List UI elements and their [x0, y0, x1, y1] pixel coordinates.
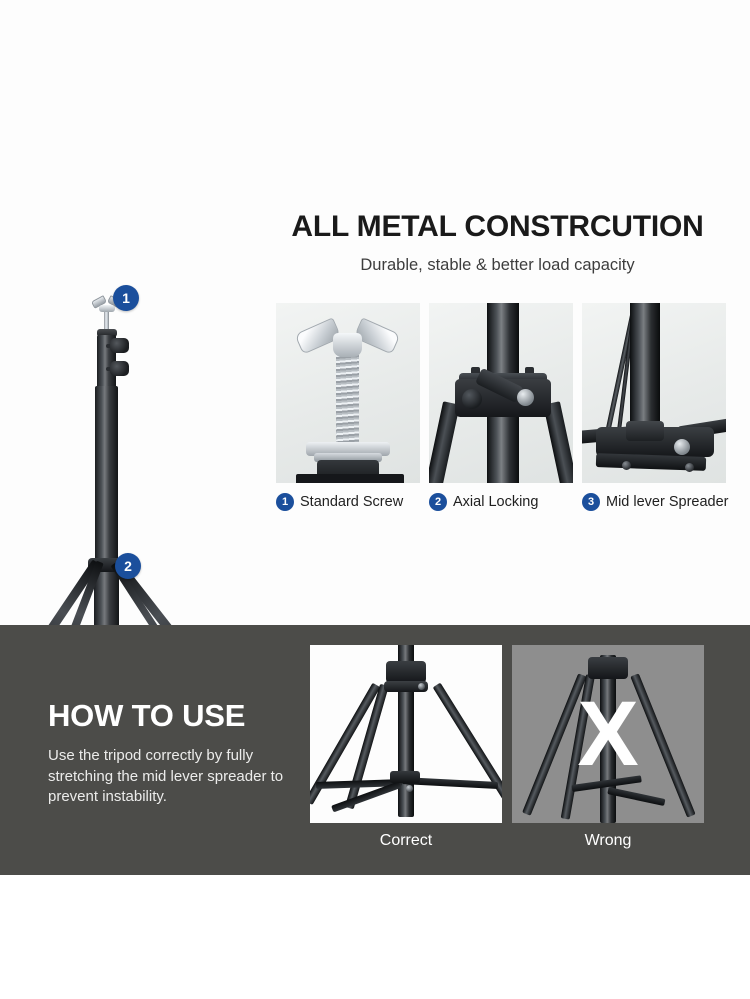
infographic-page: 1 2 3 ALL METAL CONSTRCUTION Durable, st…	[0, 0, 750, 999]
screw-mount-plate	[296, 474, 404, 483]
axial-lock-pivot-knob	[462, 389, 482, 409]
how-to-use-description: Use the tripod correctly by fully stretc…	[48, 746, 300, 808]
hero-callout-badge-1-number: 1	[122, 290, 130, 306]
axial-lock-bolt	[517, 389, 534, 406]
feature-card-standard-screw[interactable]: 1 Standard Screw	[276, 303, 420, 535]
headline-block: ALL METAL CONSTRCUTION Durable, stable &…	[265, 210, 730, 275]
spreader-bolt	[674, 439, 690, 455]
spreader-rivet-left	[622, 461, 631, 470]
usecase-wrong[interactable]: X Wrong	[512, 645, 704, 850]
wrong-x-mark-icon: X	[512, 645, 704, 823]
correct-spreader-hub	[390, 771, 420, 783]
locking-knob-upper	[110, 338, 129, 353]
wing-screw-nut	[99, 305, 115, 312]
hero-tripod-image: 1 2 3	[0, 130, 270, 625]
feature-caption-axial-locking: 2 Axial Locking	[429, 493, 573, 511]
page-subtitle: Durable, stable & better load capacity	[265, 256, 730, 275]
feature-label-1: Standard Screw	[300, 494, 403, 510]
hero-callout-badge-1[interactable]: 1	[113, 285, 139, 311]
feature-thumb-axial-locking	[429, 303, 573, 483]
feature-badge-2: 2	[429, 493, 447, 511]
hero-callout-badge-2[interactable]: 2	[115, 553, 141, 579]
usecase-wrong-image: X	[512, 645, 704, 823]
usecase-correct-image	[310, 645, 502, 823]
correct-top-hub	[386, 661, 426, 683]
correct-collar-rivet	[418, 683, 425, 690]
spreader-column-collar	[626, 421, 664, 441]
feature-card-row: 1 Standard Screw	[276, 303, 728, 535]
locking-knob-lower	[110, 361, 129, 376]
correct-hub-rivet	[406, 785, 413, 792]
all-metal-construction-section: 1 2 3 ALL METAL CONSTRCUTION Durable, st…	[0, 0, 750, 625]
how-to-use-text-block: HOW TO USE Use the tripod correctly by f…	[48, 698, 300, 808]
feature-thumb-mid-lever-spreader	[582, 303, 726, 483]
hero-callout-badge-2-number: 2	[124, 558, 132, 574]
column-segment-middle	[95, 386, 118, 576]
screw-collar-body	[333, 333, 362, 357]
usecase-wrong-label: Wrong	[512, 832, 704, 850]
feature-badge-3: 3	[582, 493, 600, 511]
feature-label-3: Mid lever Spreader	[606, 494, 729, 510]
feature-thumb-standard-screw	[276, 303, 420, 483]
spreader-rivet-right	[685, 463, 694, 472]
how-to-use-title: HOW TO USE	[48, 698, 300, 734]
page-title: ALL METAL CONSTRCUTION	[265, 210, 730, 243]
feature-label-2: Axial Locking	[453, 494, 538, 510]
feature-badge-1: 1	[276, 493, 294, 511]
usecase-correct-label: Correct	[310, 832, 502, 850]
feature-caption-standard-screw: 1 Standard Screw	[276, 493, 420, 511]
feature-card-axial-locking[interactable]: 2 Axial Locking	[429, 303, 573, 535]
feature-caption-mid-lever-spreader: 3 Mid lever Spreader	[582, 493, 726, 511]
feature-card-mid-lever-spreader[interactable]: 3 Mid lever Spreader	[582, 303, 726, 535]
usecase-correct[interactable]: Correct	[310, 645, 502, 850]
